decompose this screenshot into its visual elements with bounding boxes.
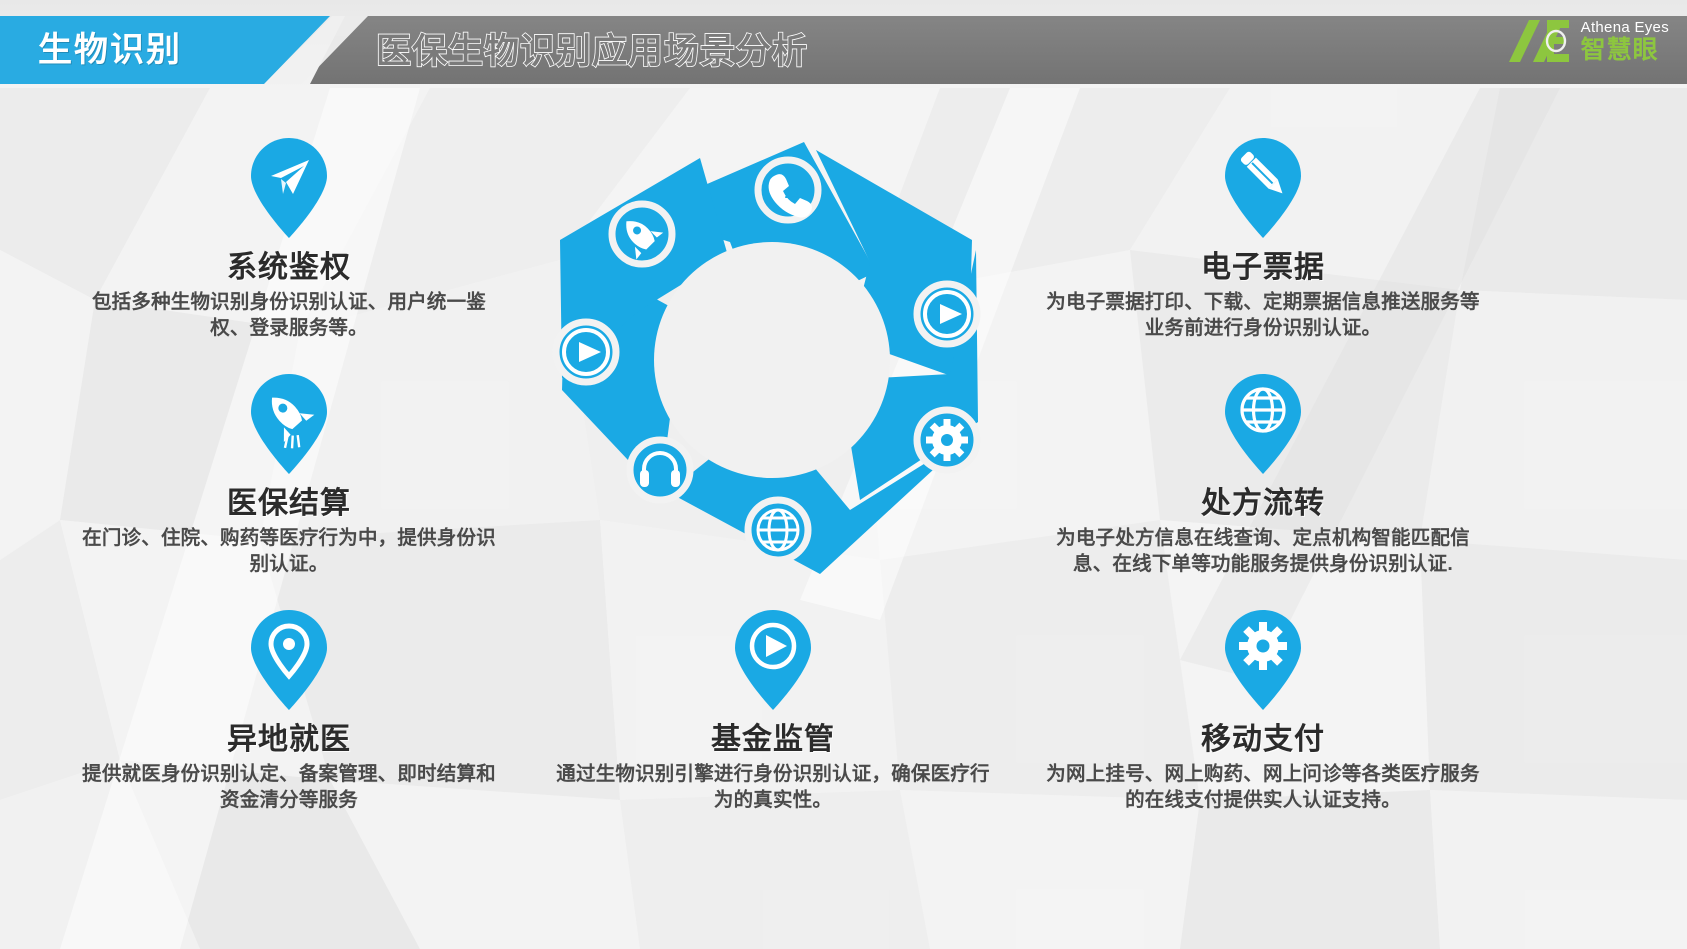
card-description: 为网上挂号、网上购药、网上问诊等各类医疗服务的在线支付提供实人认证支持。 [1038, 762, 1488, 813]
card-title: 基金监管 [548, 714, 998, 758]
pencil-icon [1221, 136, 1305, 240]
rocket-icon [247, 372, 331, 476]
header-shapes [0, 0, 1687, 88]
card-title: 处方流转 [1038, 478, 1488, 522]
globe-icon [1221, 372, 1305, 476]
card-title: 移动支付 [1038, 714, 1488, 758]
gear-icon [1221, 608, 1305, 712]
play-circle-icon [731, 608, 815, 712]
page-title: 医保生物识别应用场景分析 [376, 23, 808, 74]
logo-chinese-name: 智慧眼 [1581, 38, 1669, 63]
card-description: 提供就医身份识别认定、备案管理、即时结算和资金清分等服务 [74, 762, 504, 813]
card-system-authentication[interactable]: 系统鉴权 包括多种生物识别身份识别认证、用户统一鉴权、登录服务等。 [74, 136, 504, 341]
card-fund-supervision[interactable]: 基金监管 通过生物识别引擎进行身份识别认证，确保医疗行为的真实性。 [548, 608, 998, 813]
card-title: 异地就医 [74, 714, 504, 758]
card-description: 包括多种生物识别身份识别认证、用户统一鉴权、登录服务等。 [74, 290, 504, 341]
card-description: 在门诊、住院、购药等医疗行为中，提供身份识别认证。 [74, 526, 504, 577]
card-description: 为电子票据打印、下载、定期票据信息推送服务等业务前进行身份识别认证。 [1038, 290, 1488, 341]
card-electronic-invoice[interactable]: 电子票据 为电子票据打印、下载、定期票据信息推送服务等业务前进行身份识别认证。 [1038, 136, 1488, 341]
card-title: 医保结算 [74, 478, 504, 522]
slide-header: 生物识别 医保生物识别应用场景分析 Athena Eyes 智慧眼 [0, 0, 1687, 88]
card-medical-insurance-settlement[interactable]: 医保结算 在门诊、住院、购药等医疗行为中，提供身份识别认证。 [74, 372, 504, 577]
card-title: 系统鉴权 [74, 242, 504, 286]
card-description: 通过生物识别引擎进行身份识别认证，确保医疗行为的真实性。 [548, 762, 998, 813]
card-remote-medical-treatment[interactable]: 异地就医 提供就医身份识别认定、备案管理、即时结算和资金清分等服务 [74, 608, 504, 813]
athena-eyes-mark-icon [1507, 16, 1573, 66]
card-title: 电子票据 [1038, 242, 1488, 286]
brand-logo: Athena Eyes 智慧眼 [1507, 16, 1669, 66]
card-description: 为电子处方信息在线查询、定点机构智能匹配信息、在线下单等功能服务提供身份识别认证… [1038, 526, 1488, 577]
header-tag: 生物识别 [38, 22, 182, 71]
logo-english-name: Athena Eyes [1581, 20, 1669, 35]
card-mobile-payment[interactable]: 移动支付 为网上挂号、网上购药、网上问诊等各类医疗服务的在线支付提供实人认证支持… [1038, 608, 1488, 813]
paper-plane-icon [247, 136, 331, 240]
map-pin-icon [247, 608, 331, 712]
card-prescription-circulation[interactable]: 处方流转 为电子处方信息在线查询、定点机构智能匹配信息、在线下单等功能服务提供身… [1038, 372, 1488, 577]
